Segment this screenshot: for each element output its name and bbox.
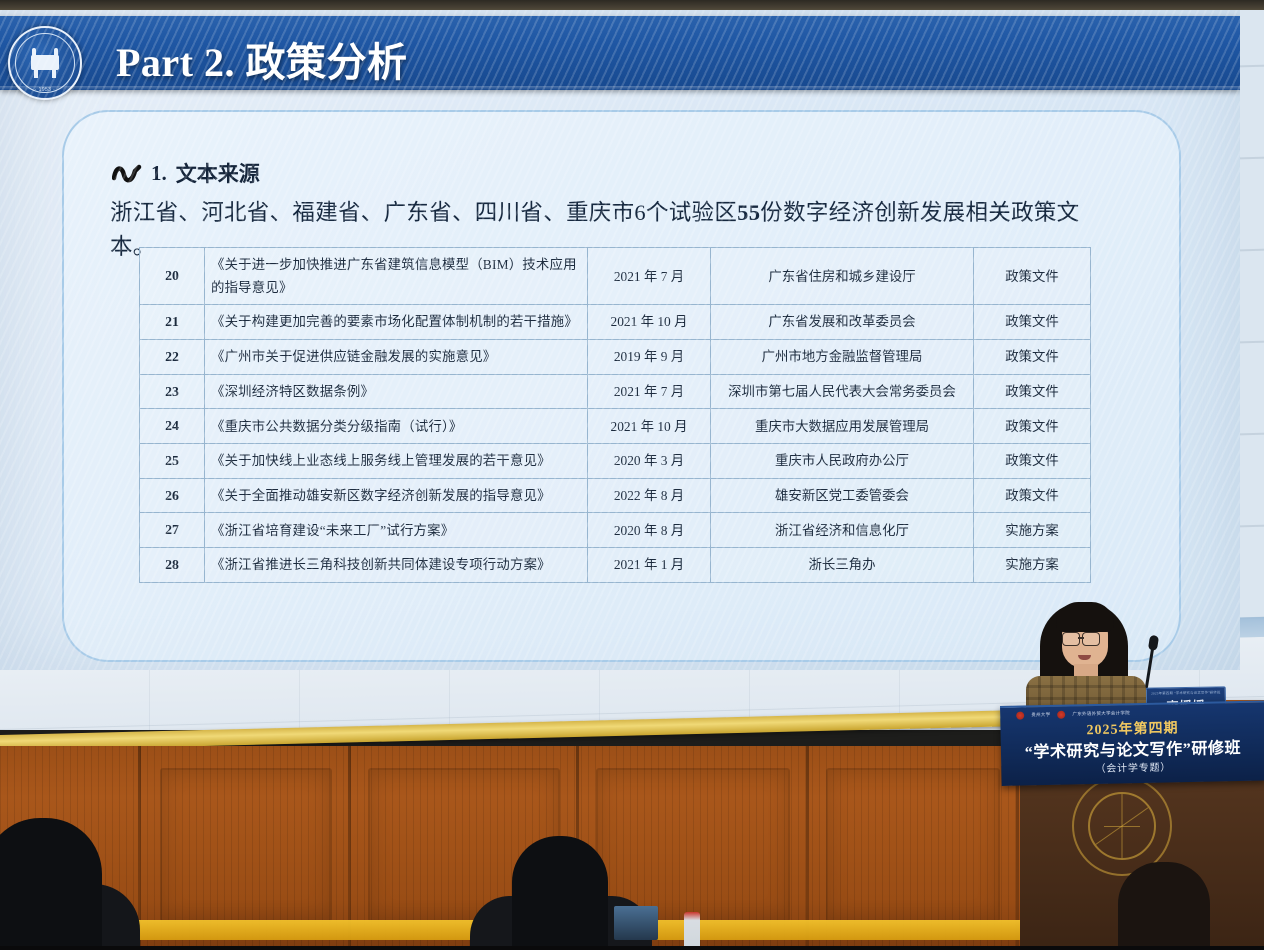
table-cell-title: 《广州市关于促进供应链金融发展的实施意见》 bbox=[205, 339, 588, 374]
table-cell-title: 《浙江省培育建设“未来工厂”试行方案》 bbox=[205, 513, 588, 548]
lead-text-part1: 浙江省、河北省、福建省、广东省、四川省、重庆市6个试验区 bbox=[110, 200, 737, 225]
table-cell-date: 2020 年 3 月 bbox=[588, 443, 711, 478]
table-cell-title: 《关于全面推动雄安新区数字经济创新发展的指导意见》 bbox=[205, 478, 588, 513]
squiggle-icon bbox=[112, 163, 142, 183]
table-row: 22《广州市关于促进供应链金融发展的实施意见》2019 年 9 月广州市地方金融… bbox=[140, 339, 1091, 374]
table-cell-title: 《浙江省推进长三角科技创新共同体建设专项行动方案》 bbox=[205, 548, 588, 583]
section-number: 1. bbox=[151, 161, 167, 186]
table-cell-date: 2022 年 8 月 bbox=[588, 478, 711, 513]
table-cell-date: 2019 年 9 月 bbox=[588, 339, 711, 374]
table-cell-title: 《关于进一步加快推进广东省建筑信息模型（BIM）技术应用的指导意见》 bbox=[205, 248, 588, 305]
table-cell-type: 实施方案 bbox=[974, 513, 1091, 548]
table-row: 24《重庆市公共数据分类分级指南（试行）》2021 年 10 月重庆市大数据应用… bbox=[140, 409, 1091, 444]
table-cell-no: 22 bbox=[140, 339, 205, 374]
table-cell-no: 28 bbox=[140, 548, 205, 583]
table-row: 27《浙江省培育建设“未来工厂”试行方案》2020 年 8 月浙江省经济和信息化… bbox=[140, 513, 1091, 548]
table-row: 25《关于加快线上业态线上服务线上管理发展的若干意见》2020 年 3 月重庆市… bbox=[140, 443, 1091, 478]
table-row: 28《浙江省推进长三角科技创新共同体建设专项行动方案》2021 年 1 月浙长三… bbox=[140, 548, 1091, 583]
policy-table-body: 20《关于进一步加快推进广东省建筑信息模型（BIM）技术应用的指导意见》2021… bbox=[140, 248, 1091, 583]
nameplate-header: 2025年第四期 “学术研究与论文写作”研修班 bbox=[1147, 689, 1225, 695]
event-banner: 贵州大学 广东外语外贸大学会计学院 2025年第四期 “学术研究与论文写作”研修… bbox=[1000, 700, 1264, 786]
policy-document-table: 20《关于进一步加快推进广东省建筑信息模型（BIM）技术应用的指导意见》2021… bbox=[139, 247, 1091, 583]
banner-logo-right-label: 广东外语外贸大学会计学院 bbox=[1072, 710, 1130, 717]
table-row: 21《关于构建更加完善的要素市场化配置体制机制的若干措施》2021 年 10 月… bbox=[140, 305, 1091, 340]
table-cell-no: 27 bbox=[140, 513, 205, 548]
audience-member-left bbox=[0, 818, 102, 950]
table-cell-title: 《重庆市公共数据分类分级指南（试行）》 bbox=[205, 409, 588, 444]
table-cell-org: 浙长三角办 bbox=[711, 548, 974, 583]
audience-member-center bbox=[512, 836, 608, 950]
table-cell-org: 雄安新区党工委管委会 bbox=[711, 478, 974, 513]
table-cell-no: 20 bbox=[140, 248, 205, 305]
table-cell-no: 25 bbox=[140, 443, 205, 478]
slide-title-bar: · 1953 · Part 2. 政策分析 bbox=[0, 16, 1240, 90]
audience-member-right bbox=[1118, 862, 1210, 950]
table-cell-no: 23 bbox=[140, 374, 205, 409]
table-cell-type: 政策文件 bbox=[974, 478, 1091, 513]
table-cell-date: 2021 年 10 月 bbox=[588, 409, 711, 444]
banner-logo-left-label: 贵州大学 bbox=[1031, 711, 1050, 717]
audience-laptop-screen bbox=[614, 906, 658, 940]
table-cell-org: 广东省住房和城乡建设厅 bbox=[711, 248, 974, 305]
table-cell-date: 2021 年 1 月 bbox=[588, 548, 711, 583]
section-title: 文本来源 bbox=[176, 158, 260, 188]
slide-title-cn: 政策分析 bbox=[246, 40, 408, 85]
table-cell-org: 深圳市第七届人民代表大会常务委员会 bbox=[711, 374, 974, 409]
table-cell-date: 2020 年 8 月 bbox=[588, 513, 711, 548]
table-cell-org: 浙江省经济和信息化厅 bbox=[711, 513, 974, 548]
table-cell-org: 广州市地方金融监督管理局 bbox=[711, 339, 974, 374]
lecture-hall-photo: · 1953 · Part 2. 政策分析 1. 文本来源 浙江省、河北省、福建… bbox=[0, 0, 1264, 950]
table-cell-type: 实施方案 bbox=[974, 548, 1091, 583]
seal-year: · 1953 · bbox=[10, 87, 80, 93]
lead-count: 55 bbox=[737, 200, 760, 225]
table-row: 26《关于全面推动雄安新区数字经济创新发展的指导意见》2022 年 8 月雄安新… bbox=[140, 478, 1091, 513]
table-cell-date: 2021 年 7 月 bbox=[588, 248, 711, 305]
eyeglasses-right-icon bbox=[1082, 632, 1100, 646]
table-cell-type: 政策文件 bbox=[974, 305, 1091, 340]
slide-title-latin: Part 2. bbox=[116, 40, 235, 85]
table-cell-type: 政策文件 bbox=[974, 443, 1091, 478]
table-cell-no: 24 bbox=[140, 409, 205, 444]
banner-logo-left-icon bbox=[1016, 711, 1024, 719]
section-heading: 1. 文本来源 bbox=[112, 158, 260, 188]
table-cell-type: 政策文件 bbox=[974, 374, 1091, 409]
banner-logo-right-icon bbox=[1057, 710, 1065, 718]
table-cell-org: 广东省发展和改革委员会 bbox=[711, 305, 974, 340]
projected-slide: · 1953 · Part 2. 政策分析 1. 文本来源 浙江省、河北省、福建… bbox=[0, 10, 1240, 670]
water-bottle bbox=[684, 912, 700, 950]
table-cell-no: 26 bbox=[140, 478, 205, 513]
table-cell-date: 2021 年 7 月 bbox=[588, 374, 711, 409]
table-cell-type: 政策文件 bbox=[974, 409, 1091, 444]
university-seal-icon: · 1953 · bbox=[8, 26, 82, 100]
table-cell-date: 2021 年 10 月 bbox=[588, 305, 711, 340]
university-globe-emblem-icon bbox=[1072, 776, 1172, 876]
table-cell-title: 《深圳经济特区数据条例》 bbox=[205, 374, 588, 409]
table-row: 23《深圳经济特区数据条例》2021 年 7 月深圳市第七届人民代表大会常务委员… bbox=[140, 374, 1091, 409]
table-cell-type: 政策文件 bbox=[974, 339, 1091, 374]
table-cell-type: 政策文件 bbox=[974, 248, 1091, 305]
photo-bottom-edge bbox=[0, 946, 1264, 950]
table-cell-no: 21 bbox=[140, 305, 205, 340]
page-title: Part 2. 政策分析 bbox=[116, 30, 408, 88]
table-row: 20《关于进一步加快推进广东省建筑信息模型（BIM）技术应用的指导意见》2021… bbox=[140, 248, 1091, 305]
table-cell-org: 重庆市大数据应用发展管理局 bbox=[711, 409, 974, 444]
table-cell-title: 《关于加快线上业态线上服务线上管理发展的若干意见》 bbox=[205, 443, 588, 478]
table-cell-org: 重庆市人民政府办公厅 bbox=[711, 443, 974, 478]
table-cell-title: 《关于构建更加完善的要素市场化配置体制机制的若干措施》 bbox=[205, 305, 588, 340]
eyeglasses-left-icon bbox=[1062, 632, 1080, 646]
